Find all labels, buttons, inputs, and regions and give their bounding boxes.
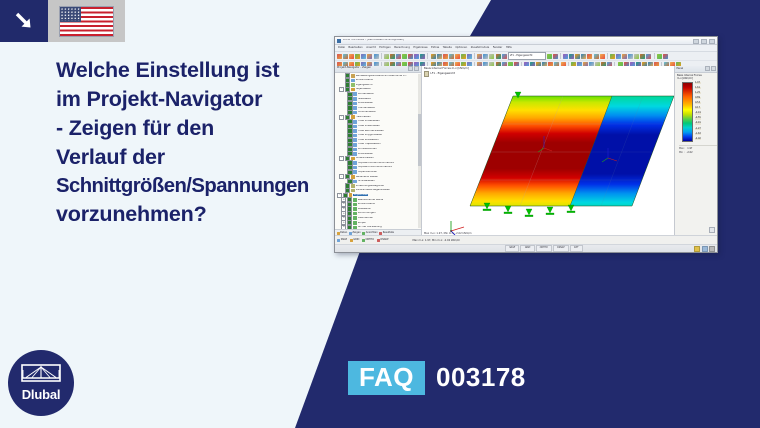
maximize-button[interactable]: [701, 39, 707, 45]
tree-item-icon: [353, 120, 357, 124]
statusbar-cell-2[interactable]: ORTHO: [536, 245, 552, 252]
statusbar-cell-0[interactable]: SNAP: [505, 245, 519, 252]
toolbar-button-14[interactable]: [431, 54, 436, 59]
toolbar-separator: [607, 53, 608, 59]
app-titlebar: RFEM 5.05.0044 - [Demo-Beam-Schnittgröße…: [335, 37, 717, 45]
tree-item-icon: [353, 129, 357, 133]
navigator-tab-label: Resultate: [383, 232, 394, 234]
tree-expander-icon[interactable]: +: [341, 225, 346, 229]
toolbar-button-28[interactable]: [563, 54, 568, 59]
tree-item-label: Freie Kreislasten: [358, 139, 379, 142]
tree-item-icon: [353, 226, 357, 229]
toolbar-button-11[interactable]: [408, 54, 413, 59]
statusbar-tab-icon: [362, 239, 365, 242]
toolbar-separator: [654, 53, 655, 59]
tree-expander-spacer: [344, 102, 347, 105]
title-line-5: Schnittgrößen/Spannungen: [56, 173, 326, 201]
toolbar-button-35[interactable]: [610, 54, 615, 59]
tree-item-icon: [353, 203, 357, 207]
title-line-2: im Projekt-Navigator: [56, 85, 326, 114]
legend-value-9: -1.27: [695, 128, 702, 130]
toolbar-button-36[interactable]: [616, 54, 621, 59]
toolbar-button-1[interactable]: [343, 54, 348, 59]
flag-stars: [61, 8, 80, 22]
tree-expander-spacer: [344, 162, 347, 165]
logo-brand-text: Dlubal: [22, 387, 61, 402]
menu-item-3[interactable]: Einfügen: [379, 47, 390, 50]
tree-item-label: Einflussflächen: [358, 148, 377, 151]
tree-item-icon: [353, 111, 357, 115]
tree-item-label: Generierte Lasten: [356, 176, 379, 179]
toolbar-button-30[interactable]: [575, 54, 580, 59]
navigator-tab-label: Zeigen: [352, 232, 360, 234]
toolbar-button-41[interactable]: [646, 54, 651, 59]
tree-expander-spacer: [341, 79, 344, 82]
tree-expander-icon[interactable]: -: [339, 174, 344, 179]
toolbar-button-20[interactable]: [467, 54, 472, 59]
statusbar-toggle-cells[interactable]: SNAPGRIDORTHOOSNAPDXF: [505, 245, 583, 252]
statusbar-tab-icon: [337, 239, 340, 242]
tree-item-label: Stablasten: [358, 98, 371, 101]
tree-item-icon: [353, 170, 357, 174]
toolbar-separator: [427, 53, 428, 59]
statusbar-coordinates: Max m-x: 1.97, Min m-x: -2.02 kNm/m: [412, 239, 460, 242]
toolbar-button-16[interactable]: [443, 54, 448, 59]
tree-item-label: Schneelasten: [358, 180, 375, 183]
tree-item-icon: [353, 125, 357, 129]
toolbar-button-25[interactable]: [502, 54, 507, 59]
statusbar-tab-label: OSNAP: [380, 239, 388, 241]
tree-expander-spacer: [344, 93, 347, 96]
tree-item-icon: [353, 180, 357, 184]
tree-item-icon: [353, 161, 357, 165]
result-legend-panel: Panel Basis Internal Forces m-x [kNm/m] …: [674, 66, 717, 236]
title-line-1: Welche Einstellung ist: [56, 56, 326, 85]
slide-canvas: Welche Einstellung ist im Projekt-Naviga…: [0, 0, 760, 428]
navigator-close-icon[interactable]: [414, 66, 419, 71]
statusbar-tab-1[interactable]: GRID: [350, 239, 360, 242]
toolbar-button-43[interactable]: [663, 54, 668, 59]
toolbar-button-27[interactable]: [553, 54, 558, 59]
app-title-text: RFEM 5.05.0044 - [Demo-Beam-Schnittgröße…: [343, 39, 404, 42]
legend-color-bar: [682, 82, 693, 142]
tree-item-label: Linienlasten: [358, 102, 373, 105]
legend-value-list: 1.971.611.250.890.530.17-0.19-0.55-0.91-…: [695, 82, 702, 140]
tree-item-icon: [353, 97, 357, 101]
toolbar-button-22[interactable]: [483, 54, 488, 59]
menu-item-0[interactable]: Datei: [338, 47, 345, 50]
statusbar-tab-0[interactable]: SNAP: [337, 239, 347, 242]
statusbar-tab-label: ORTHO: [366, 239, 375, 241]
tree-expander-icon[interactable]: -: [339, 156, 344, 161]
toolbar-button-40[interactable]: [640, 54, 645, 59]
legend-value-4: 0.53: [695, 102, 702, 104]
toolbar-separator: [381, 53, 382, 59]
result-caption-line-1: Basis Internal Forces m-x [kNm/m]: [424, 67, 469, 71]
tree-item-label: Knoten-Werte: [358, 203, 375, 206]
result-caption-line-2-row: LF1 - Eigengewicht: [424, 71, 469, 76]
tree-item-label: Imperfektionen: [358, 171, 377, 174]
tree-item-icon: [353, 138, 357, 142]
tree-expander-spacer: [344, 125, 347, 128]
menu-item-10[interactable]: Fenster: [493, 47, 503, 50]
legend-value-6: -0.19: [695, 112, 702, 114]
tree-item-label: Eigengewicht: [356, 84, 373, 87]
toolbar-button-29[interactable]: [569, 54, 574, 59]
toolbar-button-2[interactable]: [349, 54, 354, 59]
legend-panel-buttons[interactable]: [705, 66, 716, 71]
close-button[interactable]: [709, 39, 715, 45]
tree-expander-spacer: [344, 143, 347, 146]
statusbar-bottom-row: SNAPGRIDORTHOOSNAPDXF: [335, 244, 717, 252]
toolbar-button-8[interactable]: [390, 54, 395, 59]
toolbar-button-24[interactable]: [496, 54, 501, 59]
toolbar-button-21[interactable]: [477, 54, 482, 59]
tree-expander-spacer: [344, 129, 347, 132]
menu-item-1[interactable]: Bearbeiten: [348, 47, 362, 50]
toolbar-button-6[interactable]: [374, 54, 379, 59]
tree-item-label: Differentielle Negativlasten: [356, 189, 390, 192]
legend-value-8: -0.91: [695, 122, 702, 124]
navigator-scrollbar[interactable]: [418, 74, 421, 229]
statusbar-right-icons[interactable]: [694, 246, 715, 252]
tree-item-label: Freie Linienlasten: [358, 125, 380, 128]
legend-value-0: 1.97: [695, 82, 702, 84]
legend-value-10: -1.63: [695, 133, 702, 135]
tree-item-label: Andere Lasten: [356, 157, 374, 160]
tree-item-icon: [353, 207, 357, 211]
toolbar-button-9[interactable]: [396, 54, 401, 59]
project-navigator-panel: Projekt-Navigator - Zeigen Bemessungsfal…: [335, 66, 422, 236]
statusbar-tab-3[interactable]: OSNAP: [377, 239, 389, 242]
app-icon: [337, 39, 341, 43]
arrow-down-right-icon: [0, 0, 48, 42]
settings-icon[interactable]: [702, 246, 708, 252]
toolbar-button-12[interactable]: [414, 54, 419, 59]
toolbar-button-19[interactable]: [461, 54, 466, 59]
minimize-button[interactable]: [693, 39, 699, 45]
statusbar-tab-label: GRID: [353, 239, 359, 241]
result-caption-line-2: LF1 - Eigengewicht: [430, 72, 455, 76]
legend-min-max: Max : 1.97 Min : -2.02: [679, 145, 717, 154]
legend-value-7: -0.55: [695, 117, 702, 119]
tree-item-icon: [351, 79, 355, 83]
toolbar-button-0[interactable]: [337, 54, 342, 59]
tree-item-icon: [351, 189, 355, 193]
tree-item-icon: [353, 152, 357, 156]
result-caption: Basis Internal Forces m-x [kNm/m] LF1 - …: [424, 67, 469, 77]
tree-item-label: Freie Rechtecklasten: [358, 130, 384, 133]
legend-settings-icon[interactable]: [709, 227, 715, 233]
legend-color-scale: 1.971.611.250.890.530.17-0.19-0.55-0.91-…: [675, 80, 717, 142]
legend-min-row: Min : -2.02: [679, 151, 717, 154]
navigator-tab-label: Daten: [340, 232, 347, 234]
menu-item-7[interactable]: Tabelle: [443, 47, 452, 50]
load-case-combobox[interactable]: LF1 - Eigengewicht: [508, 52, 546, 59]
menu-item-9[interactable]: Zusatzmodule: [471, 47, 489, 50]
tree-item-label: Freie Einzellasten: [358, 120, 380, 123]
tree-item-label: Verformungen: [358, 212, 376, 215]
flag-graphic: [60, 7, 113, 36]
tree-expander-spacer: [341, 74, 344, 77]
statusbar-cell-1[interactable]: GRID: [520, 245, 534, 252]
tree-item-label: Stabwerte: [358, 208, 371, 211]
navigator-panel-buttons[interactable]: [408, 66, 420, 71]
title-line-3: - Zeigen für den: [56, 114, 326, 143]
legend-min-value: -2.02: [687, 151, 693, 154]
tree-item-icon: [353, 106, 357, 110]
legend-title: Basis Internal Forces m-x [kNm/m]: [675, 73, 717, 80]
app-menubar[interactable]: DateiBearbeitenAnsichtEinfügenBerechnung…: [335, 45, 717, 52]
toolbar-button-32[interactable]: [587, 54, 592, 59]
us-flag-icon[interactable]: [48, 0, 125, 42]
toolbar-button-13[interactable]: [420, 54, 425, 59]
toolbar-button-17[interactable]: [449, 54, 454, 59]
statusbar-tab-2[interactable]: ORTHO: [362, 239, 374, 242]
legend-pin-icon[interactable]: [705, 66, 710, 71]
tree-item-label: Oberflächen: [358, 217, 373, 220]
tree-checkbox[interactable]: [347, 225, 352, 229]
tree-item-icon: [353, 221, 357, 225]
toolbar-button-34[interactable]: [600, 54, 605, 59]
toolbar-button-23[interactable]: [489, 54, 494, 59]
menu-item-6[interactable]: Extras: [431, 47, 439, 50]
navigator-tab-label: Ansichten: [366, 232, 378, 234]
render-icon[interactable]: [694, 246, 700, 252]
window-controls[interactable]: [693, 39, 715, 45]
menu-item-2[interactable]: Ansicht: [366, 47, 376, 50]
toolbar-button-26[interactable]: [547, 54, 552, 59]
statusbar-tab-icon: [377, 239, 380, 242]
tree-item-icon: [351, 74, 355, 78]
statusbar-tab-label: SNAP: [341, 239, 347, 241]
toolbar-button-33[interactable]: [594, 54, 599, 59]
tree-expander-icon[interactable]: -: [339, 87, 344, 92]
tree-expander-spacer: [344, 97, 347, 100]
toolbar-button-4[interactable]: [361, 54, 366, 59]
toolbar-button-5[interactable]: [367, 54, 372, 59]
flag-canton: [60, 7, 81, 23]
page-title: Welche Einstellung ist im Projekt-Naviga…: [56, 56, 326, 229]
tree-item-icon: [351, 184, 355, 188]
statusbar-tabs[interactable]: SNAPGRIDORTHOOSNAP: [335, 239, 388, 242]
tree-expander-icon[interactable]: -: [339, 115, 344, 120]
tree-item-label: Imposed Line Deformations: [358, 166, 392, 169]
tree-item-label: Imposed Nodal Deformations: [358, 162, 394, 165]
tree-item-icon: [353, 148, 357, 152]
tree-item-label: Resultierende Werte: [358, 199, 383, 202]
print-icon[interactable]: [709, 246, 715, 252]
toolbar-button-7[interactable]: [384, 54, 389, 59]
faq-number: 003178: [436, 361, 526, 390]
legend-header-title: Panel: [677, 68, 684, 71]
faq-label-badge: FAQ: [348, 361, 425, 395]
legend-value-2: 1.25: [695, 92, 702, 94]
toolbar-button-39[interactable]: [634, 54, 639, 59]
navigator-title: Projekt-Navigator - Zeigen: [337, 67, 371, 70]
toolbar-separator: [474, 53, 475, 59]
legend-close-icon[interactable]: [711, 66, 716, 71]
load-case-icon: [424, 71, 429, 76]
toolbar-button-10[interactable]: [402, 54, 407, 59]
tree-item-label: Knoten-Werte: [356, 79, 373, 82]
legend-value-3: 0.89: [695, 97, 702, 99]
statusbar-cell-3[interactable]: OSNAP: [553, 245, 569, 252]
tree-item-label: Körper: [358, 222, 366, 225]
tree-expander-spacer: [344, 120, 347, 123]
app-body: Projekt-Navigator - Zeigen Bemessungsfal…: [335, 66, 717, 236]
toolbar-button-42[interactable]: [657, 54, 662, 59]
toolbar-button-3[interactable]: [355, 54, 360, 59]
tree-expander-spacer: [341, 83, 344, 86]
tree-item-label: Flächenlasten: [358, 107, 375, 110]
tree-item-icon: [353, 198, 357, 202]
tree-item-icon: [353, 216, 357, 220]
legend-value-5: 0.17: [695, 107, 702, 109]
tree-item-label: Knotenlasten: [358, 93, 375, 96]
menu-item-4[interactable]: Berechnung: [394, 47, 410, 50]
toolbar-button-31[interactable]: [581, 54, 586, 59]
tree-item-label: Linienlasten: [358, 153, 373, 156]
tree-item-label: Freie Trapezlasten: [358, 143, 381, 146]
statusbar-tab-icon: [350, 239, 353, 242]
tree-item-label: Ergebnisse: [353, 194, 368, 197]
toolbar-button-38[interactable]: [628, 54, 633, 59]
title-line-6: vorzunehmen?: [56, 200, 326, 229]
menu-item-5[interactable]: Ergebnisse: [413, 47, 427, 50]
menu-item-8[interactable]: Optionen: [455, 47, 467, 50]
fea-plate-result-contour[interactable]: [460, 88, 674, 218]
tree-expander-spacer: [344, 148, 347, 151]
tree-item-label: Volumenlasten: [358, 111, 377, 114]
statusbar-top-row: SNAPGRIDORTHOOSNAP Max m-x: 1.97, Min m-…: [335, 236, 717, 244]
tree-item-label: Objektlasten: [356, 88, 372, 91]
tree-item-icon: [353, 166, 357, 170]
statusbar-cell-4[interactable]: DXF: [570, 245, 583, 252]
tree-item-icon: [351, 83, 355, 87]
tree-item-icon: [353, 212, 357, 216]
navigator-pin-icon[interactable]: [408, 66, 413, 71]
toolbar-button-37[interactable]: [622, 54, 627, 59]
app-toolbar-row-1[interactable]: LF1 - Eigengewicht: [335, 52, 717, 61]
work-area-3d-view[interactable]: Basis Internal Forces m-x [kNm/m] LF1 - …: [422, 66, 674, 236]
tree-expander-spacer: [344, 139, 347, 142]
legend-value-1: 1.61: [695, 87, 702, 89]
tree-item-icon: [353, 143, 357, 147]
tree-item-label: Bemessungsfall-Werte an Oberfläche C-..: [356, 75, 407, 78]
toolbar-separator: [560, 53, 561, 59]
legend-value-11: -2.02: [695, 138, 702, 140]
menu-item-11[interactable]: Hilfe: [506, 47, 512, 50]
tree-expander-spacer: [344, 134, 347, 137]
tree-item-icon: [353, 134, 357, 138]
tree-expander-spacer: [344, 166, 347, 169]
tree-item-icon: [353, 92, 357, 96]
tree-item-label: Einwirkungskategorien: [356, 185, 384, 188]
tree-item-label: Freie Polygonlasten: [358, 134, 382, 137]
tree-item-label: Art der Darstellung: [358, 226, 382, 229]
tree-item-icon: [353, 102, 357, 106]
rfem-application-window: RFEM 5.05.0044 - [Demo-Beam-Schnittgröße…: [334, 36, 718, 253]
dlubal-logo: Dlubal: [8, 350, 74, 416]
toolbar-button-15[interactable]: [437, 54, 442, 59]
app-statusbar: SNAPGRIDORTHOOSNAP Max m-x: 1.97, Min m-…: [335, 235, 717, 252]
tree-item-label: Freie Lasten: [356, 116, 371, 119]
navigator-tree[interactable]: Bemessungsfall-Werte an Oberfläche C-..K…: [335, 73, 421, 230]
tree-expander-spacer: [344, 106, 347, 109]
title-line-4: Verlauf der: [56, 143, 326, 172]
tree-expander-spacer: [341, 185, 344, 188]
toolbar-button-18[interactable]: [455, 54, 460, 59]
legend-min-label: Min :: [679, 151, 685, 154]
bridge-truss-icon: [21, 364, 61, 386]
